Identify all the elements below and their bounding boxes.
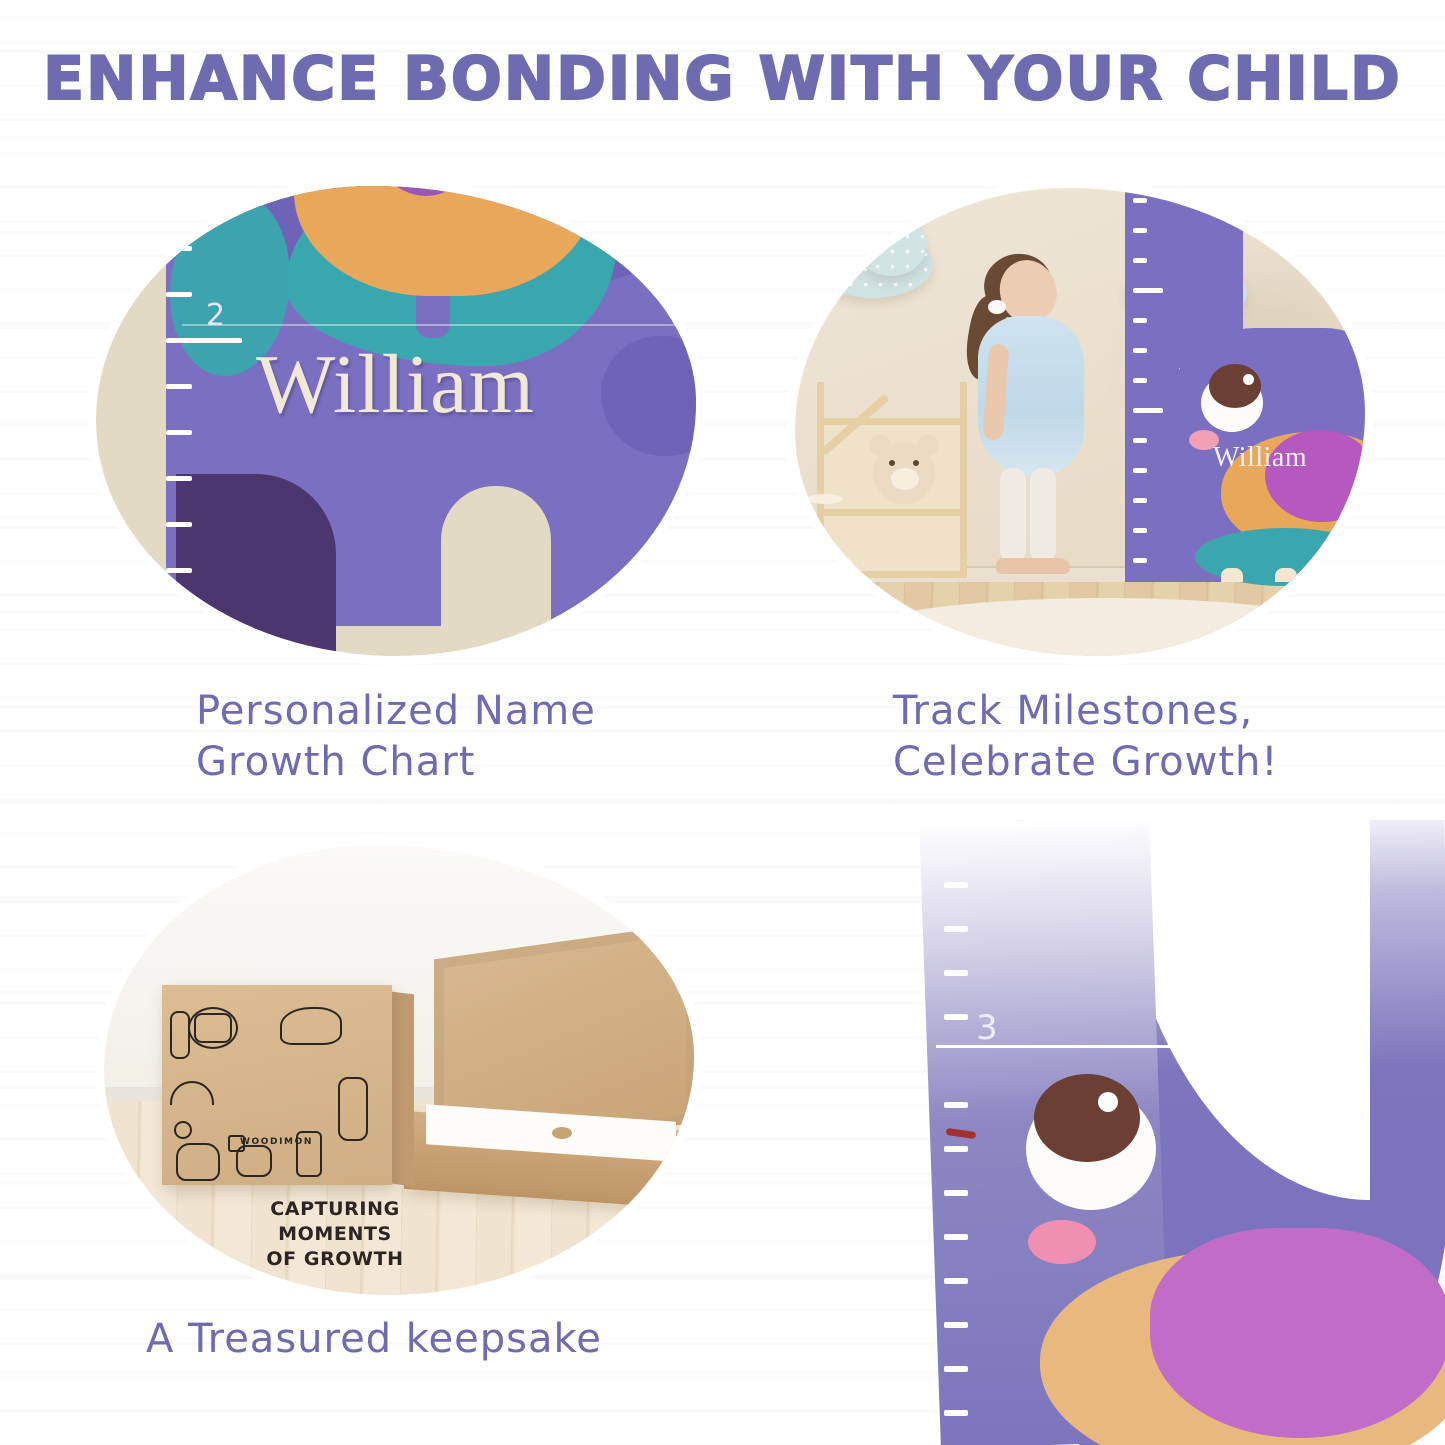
page-headline: ENHANCE BONDING WITH YOUR CHILD bbox=[0, 44, 1445, 114]
closeup-eye-highlight bbox=[1098, 1092, 1118, 1112]
closeup-ear-magenta bbox=[1150, 1228, 1445, 1438]
cloud-pillow-left-bump bbox=[855, 214, 927, 276]
brand-name: WOODIMON bbox=[240, 1137, 313, 1147]
open-box-finger-hole bbox=[552, 1127, 572, 1139]
child-figure bbox=[960, 260, 1110, 590]
panel-room-scene: William bbox=[795, 188, 1365, 656]
measurement-guideline bbox=[182, 324, 696, 326]
box-slogan: CAPTURING MOMENTS OF GROWTH bbox=[232, 1197, 438, 1272]
closed-box-side bbox=[392, 992, 414, 1187]
closeup-eye-iris bbox=[1034, 1074, 1140, 1162]
elephant-face-closeup: 3 bbox=[900, 820, 1445, 1445]
growth-chart-on-wall: William bbox=[1125, 188, 1365, 582]
chart-eye-highlight bbox=[1243, 374, 1254, 385]
doodle-dinosaur bbox=[280, 1007, 342, 1045]
caption-treasured-keepsake: A Treasured keepsake bbox=[146, 1314, 602, 1365]
plate-snack bbox=[807, 494, 843, 504]
chart-child-name: William bbox=[1213, 442, 1307, 474]
ruler-scale: 2 bbox=[166, 246, 246, 646]
chart-foot-left bbox=[1221, 568, 1243, 582]
closeup-ruler-scale bbox=[944, 860, 1034, 1420]
chart-foot-right bbox=[1275, 568, 1297, 582]
elephant-leg-gap bbox=[441, 486, 551, 656]
doodle-lion-mane bbox=[188, 1007, 238, 1049]
doodle-cactus bbox=[170, 1011, 190, 1059]
child-leg-left bbox=[1000, 468, 1026, 562]
caption-personalized-name: Personalized Name Growth Chart bbox=[196, 686, 596, 788]
teddy-bear bbox=[867, 432, 941, 506]
doodle-toucan bbox=[176, 1143, 220, 1181]
engraved-child-name: William bbox=[256, 336, 535, 433]
chart-eye-iris bbox=[1209, 364, 1261, 408]
doodle-giraffe bbox=[338, 1077, 368, 1141]
doodle-rainbow bbox=[170, 1081, 214, 1105]
ruler-number-2: 2 bbox=[206, 298, 225, 333]
caption-track-milestones: Track Milestones, Celebrate Growth! bbox=[893, 686, 1278, 788]
child-foot-right bbox=[1026, 558, 1070, 574]
closed-gift-box: WOODIMON CAPTURING MOMENTS OF GROWTH bbox=[162, 985, 392, 1185]
child-hair-tie bbox=[988, 300, 1006, 314]
panel-packaging: WOODIMON CAPTURING MOMENTS OF GROWTH bbox=[104, 845, 694, 1295]
doodle-sun bbox=[174, 1121, 192, 1139]
panel-personalized-name: William 2 bbox=[96, 186, 696, 656]
house-shelf-divider bbox=[817, 509, 967, 516]
child-leg-right bbox=[1030, 468, 1056, 562]
closeup-cheek bbox=[1028, 1220, 1096, 1264]
closeup-ruler-number-3: 3 bbox=[976, 1008, 998, 1048]
